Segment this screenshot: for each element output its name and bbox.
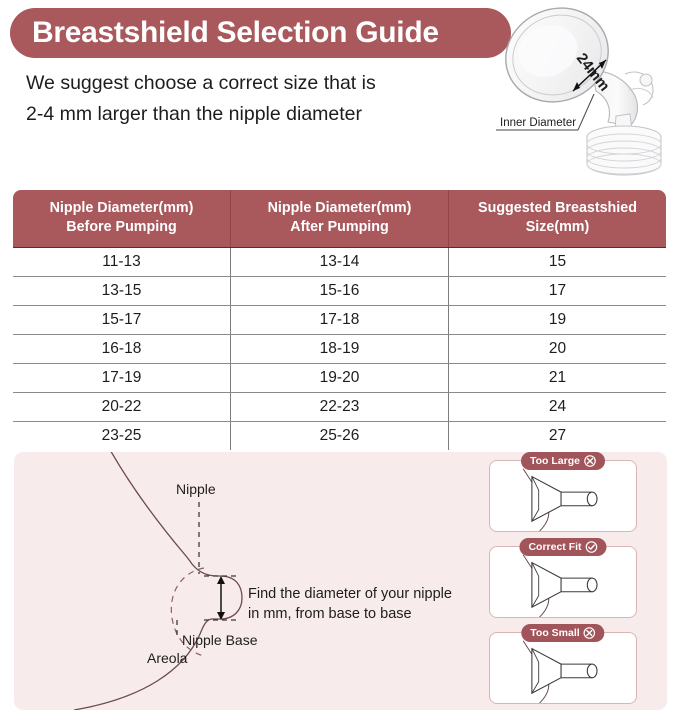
cell-size: 24	[449, 393, 667, 422]
instruction-line-2: in mm, from base to base	[248, 606, 412, 622]
fit-badge: Correct Fit	[519, 538, 606, 556]
cell-size: 15	[449, 248, 667, 277]
shield-flange	[492, 0, 623, 117]
cell-size: 19	[449, 306, 667, 335]
table-row: 13-1515-1617	[13, 277, 667, 306]
fit-shield-illustration	[490, 461, 636, 531]
table-row: 17-1919-2021	[13, 364, 667, 393]
table-body: 11-1313-141513-1515-161715-1717-181916-1…	[13, 248, 667, 451]
cell-after: 17-18	[231, 306, 449, 335]
column-header-after-pumping: Nipple Diameter(mm) After Pumping	[231, 190, 449, 248]
measure-arrow-icon	[217, 576, 225, 620]
cell-before: 20-22	[13, 393, 231, 422]
breast-upper-curve	[109, 452, 192, 564]
page-title-banner: Breastshield Selection Guide	[10, 8, 511, 58]
instruction-line-1: Find the diameter of your nipple	[248, 586, 452, 602]
table-header-row: Nipple Diameter(mm) Before Pumping Nippl…	[13, 190, 667, 248]
cell-after: 22-23	[231, 393, 449, 422]
label-nipple: Nipple	[176, 481, 216, 497]
column-header-suggested-size: Suggested Breastshied Size(mm)	[449, 190, 667, 248]
header-line-1: Nipple Diameter(mm)	[17, 199, 226, 218]
inner-diameter-label: Inner Diameter	[500, 117, 576, 129]
subtitle-line-2: 2-4 mm larger than the nipple diameter	[26, 99, 456, 130]
page-title: Breastshield Selection Guide	[32, 18, 439, 48]
bottle-threads	[587, 126, 661, 175]
fit-tunnel-end	[587, 664, 597, 678]
fit-shield-illustration	[490, 633, 636, 703]
cell-before: 11-13	[13, 248, 231, 277]
cell-after: 13-14	[231, 248, 449, 277]
fit-comparison-cards: Too Large Correct Fit Too Small	[489, 460, 637, 704]
cross-circle-icon	[584, 627, 596, 639]
label-areola: Areola	[147, 650, 188, 666]
fit-shield-illustration	[490, 547, 636, 617]
fit-badge: Too Small	[521, 624, 604, 642]
header-line-2: Size(mm)	[453, 218, 662, 237]
column-header-before-pumping: Nipple Diameter(mm) Before Pumping	[13, 190, 231, 248]
fit-badge-label: Too Large	[530, 456, 580, 467]
table-row: 16-1818-1920	[13, 335, 667, 364]
cell-size: 20	[449, 335, 667, 364]
fit-badge-label: Too Small	[530, 628, 579, 639]
size-chart-table: Nipple Diameter(mm) Before Pumping Nippl…	[12, 189, 667, 451]
measurement-guide-panel: Nipple Find the diameter of your nipple …	[14, 452, 667, 710]
nipple-anatomy-diagram: Nipple Find the diameter of your nipple …	[14, 452, 469, 710]
fit-card-good-1: Correct Fit	[489, 546, 637, 618]
breast-to-nipple-top	[192, 564, 220, 576]
fit-badge-label: Correct Fit	[528, 542, 581, 553]
breastshield-svg: 24mm Inner Diameter	[488, 0, 679, 178]
cell-after: 19-20	[231, 364, 449, 393]
cell-after: 15-16	[231, 277, 449, 306]
subtitle-line-1: We suggest choose a correct size that is	[26, 68, 456, 99]
fit-tunnel-end	[587, 492, 597, 506]
table-row: 20-2222-2324	[13, 393, 667, 422]
table-row: 15-1717-1819	[13, 306, 667, 335]
cell-size: 27	[449, 422, 667, 451]
header-line-2: After Pumping	[235, 218, 444, 237]
cell-before: 17-19	[13, 364, 231, 393]
fit-card-bad-2: Too Small	[489, 632, 637, 704]
cell-size: 17	[449, 277, 667, 306]
check-circle-icon	[586, 541, 598, 553]
subtitle-block: We suggest choose a correct size that is…	[26, 68, 456, 130]
cell-before: 16-18	[13, 335, 231, 364]
cell-after: 25-26	[231, 422, 449, 451]
header-line-1: Nipple Diameter(mm)	[235, 199, 444, 218]
cross-circle-icon	[584, 455, 596, 467]
cell-before: 15-17	[13, 306, 231, 335]
breastshield-illustration: 24mm Inner Diameter	[488, 0, 679, 178]
fit-card-bad-0: Too Large	[489, 460, 637, 532]
table-row: 23-2525-2627	[13, 422, 667, 451]
label-nipple-base: Nipple Base	[182, 632, 258, 648]
table-head: Nipple Diameter(mm) Before Pumping Nippl…	[13, 190, 667, 248]
cell-after: 18-19	[231, 335, 449, 364]
cell-before: 23-25	[13, 422, 231, 451]
shield-knob	[640, 74, 652, 86]
header-line-2: Before Pumping	[17, 218, 226, 237]
anatomy-svg: Nipple Find the diameter of your nipple …	[14, 452, 469, 710]
table-row: 11-1313-1415	[13, 248, 667, 277]
fit-tunnel-end	[587, 578, 597, 592]
cell-before: 13-15	[13, 277, 231, 306]
fit-badge: Too Large	[521, 452, 605, 470]
header-line-1: Suggested Breastshied	[453, 199, 662, 218]
cell-size: 21	[449, 364, 667, 393]
